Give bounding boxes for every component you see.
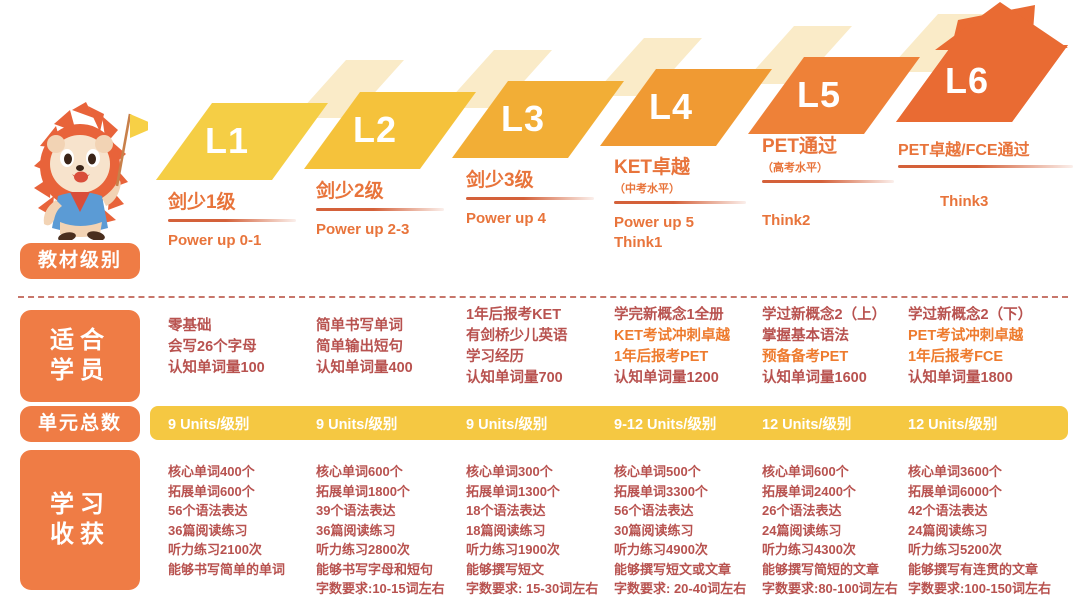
outcome-line: 能够撰写有连贯的文章 [908,560,1051,580]
outcomes-cell-L6: 核心单词3600个 拓展单词6000个 42个语法表达 24篇阅读练习 听力练习… [908,462,1051,599]
audience-line: 认知单词量1200 [614,368,730,389]
audience-line: 1年后报考KET [466,305,568,326]
level-books-L6: Think3 [898,192,1073,212]
audience-line: 简单书写单词 [316,316,413,337]
outcomes-cell-L3: 核心单词300个 拓展单词1300个 18个语法表达 18篇阅读练习 听力练习1… [466,462,598,599]
outcome-line: 56个语法表达 [614,501,746,521]
outcome-line: 能够书写简单的单词 [168,560,285,580]
outcome-line: 听力练习5200次 [908,540,1051,560]
outcome-line: 拓展单词2400个 [762,482,898,502]
audience-line: 认知单词量700 [466,368,568,389]
audience-line: 零基础 [168,316,265,337]
outcome-line: 字数要求: 15-30词左右 [466,579,598,599]
units-cell-L2: 9 Units/级别 [316,406,397,440]
row-label-audience: 适合 学员 [20,310,140,402]
audience-cell-L3: 1年后报考KET 有剑桥少儿英语 学习经历 认知单词量700 [466,305,568,389]
audience-line: 学过新概念2（上） [762,305,886,326]
outcome-line: 30篇阅读练习 [614,521,746,541]
row-label-audience-line1: 适合 [50,326,110,356]
units-cell-L6: 12 Units/级别 [908,406,997,440]
units-cell-L3: 9 Units/级别 [466,406,547,440]
level-title-L5: PET通过 [762,131,894,158]
outcome-line: 听力练习4300次 [762,540,898,560]
audience-cell-L5: 学过新概念2（上） 掌握基本语法 预备备考PET 认知单词量1600 [762,305,886,389]
outcome-line: 42个语法表达 [908,501,1051,521]
column-head-L3: 剑少3级 Power up 4 [466,165,594,229]
outcome-line: 听力练习4900次 [614,540,746,560]
audience-line: 认知单词量1600 [762,368,886,389]
row-label-audience-line2: 学员 [50,356,110,386]
audience-line: 认知单词量1800 [908,368,1032,389]
outcome-line: 核心单词400个 [168,462,285,482]
outcome-line: 56个语法表达 [168,501,285,521]
outcome-line: 核心单词300个 [466,462,598,482]
audience-line: 有剑桥少儿英语 [466,326,568,347]
outcome-line: 24篇阅读练习 [762,521,898,541]
row-label-units-text: 单元总数 [38,412,122,436]
audience-cell-L1: 零基础 会写26个字母 认知单词量100 [168,316,265,379]
title-rule [762,180,894,183]
outcome-line: 听力练习1900次 [466,540,598,560]
outcome-line: 拓展单词6000个 [908,482,1051,502]
audience-line: 学过新概念2（下） [908,305,1032,326]
outcomes-cell-L5: 核心单词600个 拓展单词2400个 26个语法表达 24篇阅读练习 听力练习4… [762,462,898,599]
audience-cell-L4: 学完新概念1全册 KET考试冲刺卓越 1年后报考PET 认知单词量1200 [614,305,730,389]
level-title-L1: 剑少1级 [168,187,296,214]
row-label-outcomes-line2: 收获 [50,520,110,550]
outcome-line: 能够书写字母和短句 [316,560,445,580]
audience-line: 掌握基本语法 [762,326,886,347]
outcome-line: 能够撰写短文 [466,560,598,580]
outcome-line: 拓展单词600个 [168,482,285,502]
outcome-line: 核心单词3600个 [908,462,1051,482]
level-subtitle-L5: （高考水平） [762,159,894,175]
level-books-L5: Think2 [762,211,894,231]
outcomes-cell-L1: 核心单词400个 拓展单词600个 56个语法表达 36篇阅读练习 听力练习21… [168,462,285,579]
level-books-L2: Power up 2-3 [316,220,444,240]
level-title-L4: KET卓越 [614,152,746,179]
title-rule [466,197,594,200]
audience-line: 会写26个字母 [168,337,265,358]
units-bar: 9 Units/级别 9 Units/级别 9 Units/级别 9-12 Un… [150,406,1068,440]
outcome-line: 听力练习2800次 [316,540,445,560]
outcome-line: 18个语法表达 [466,501,598,521]
column-head-L6: PET卓越/FCE通过 Think3 [898,136,1073,212]
audience-line: 学习经历 [466,347,568,368]
level-title-L3: 剑少3级 [466,165,594,192]
outcome-line: 39个语法表达 [316,501,445,521]
outcome-line: 听力练习2100次 [168,540,285,560]
level-books-L3: Power up 4 [466,209,594,229]
audience-cell-L2: 简单书写单词 简单输出短句 认知单词量400 [316,316,413,379]
row-label-materials-text: 教材级别 [38,249,122,273]
level-title-L2: 剑少2级 [316,176,444,203]
audience-line: 认知单词量100 [168,358,265,379]
row-label-materials: 教材级别 [20,243,140,279]
audience-line: KET考试冲刺卓越 [614,326,730,347]
outcome-line: 核心单词600个 [762,462,898,482]
row-label-outcomes: 学习 收获 [20,450,140,590]
title-rule [168,219,296,222]
audience-line: 1年后报考FCE [908,347,1032,368]
audience-line: 1年后报考PET [614,347,730,368]
outcome-line: 拓展单词1300个 [466,482,598,502]
audience-cell-L6: 学过新概念2（下） PET考试冲刺卓越 1年后报考FCE 认知单词量1800 [908,305,1032,389]
outcome-line: 36篇阅读练习 [168,521,285,541]
level-books-L4: Power up 5 Think1 [614,213,746,254]
level-subtitle-L4: （中考水平） [614,180,746,196]
audience-line: PET考试冲刺卓越 [908,326,1032,347]
section-divider [18,296,1068,298]
outcome-line: 26个语法表达 [762,501,898,521]
title-rule [316,208,444,211]
outcomes-cell-L4: 核心单词500个 拓展单词3300个 56个语法表达 30篇阅读练习 听力练习4… [614,462,746,599]
outcome-line: 核心单词600个 [316,462,445,482]
column-head-L1: 剑少1级 Power up 0-1 [168,187,296,251]
column-head-L5: PET通过 （高考水平） Think2 [762,131,894,231]
outcome-line: 核心单词500个 [614,462,746,482]
column-head-L4: KET卓越 （中考水平） Power up 5 Think1 [614,152,746,254]
audience-line: 认知单词量400 [316,358,413,379]
outcome-line: 字数要求:10-15词左右 [316,579,445,599]
audience-line: 预备备考PET [762,347,886,368]
outcome-line: 36篇阅读练习 [316,521,445,541]
column-head-L2: 剑少2级 Power up 2-3 [316,176,444,240]
level-title-L6: PET卓越/FCE通过 [898,136,1073,160]
units-cell-L4: 9-12 Units/级别 [614,406,716,440]
audience-line: 简单输出短句 [316,337,413,358]
title-rule [614,201,746,204]
level-books-L1: Power up 0-1 [168,231,296,251]
row-label-outcomes-line1: 学习 [50,490,110,520]
outcome-line: 拓展单词1800个 [316,482,445,502]
outcome-line: 24篇阅读练习 [908,521,1051,541]
outcome-line: 能够撰写简短的文章 [762,560,898,580]
outcome-line: 能够撰写短文或文章 [614,560,746,580]
outcome-line: 拓展单词3300个 [614,482,746,502]
outcomes-cell-L2: 核心单词600个 拓展单词1800个 39个语法表达 36篇阅读练习 听力练习2… [316,462,445,599]
outcome-line: 字数要求:80-100词左右 [762,579,898,599]
title-rule [898,165,1073,168]
outcome-line: 18篇阅读练习 [466,521,598,541]
units-cell-L5: 12 Units/级别 [762,406,851,440]
outcome-line: 字数要求: 20-40词左右 [614,579,746,599]
outcome-line: 字数要求:100-150词左右 [908,579,1051,599]
units-cell-L1: 9 Units/级别 [168,406,249,440]
audience-line: 学完新概念1全册 [614,305,730,326]
row-label-units: 单元总数 [20,406,140,442]
